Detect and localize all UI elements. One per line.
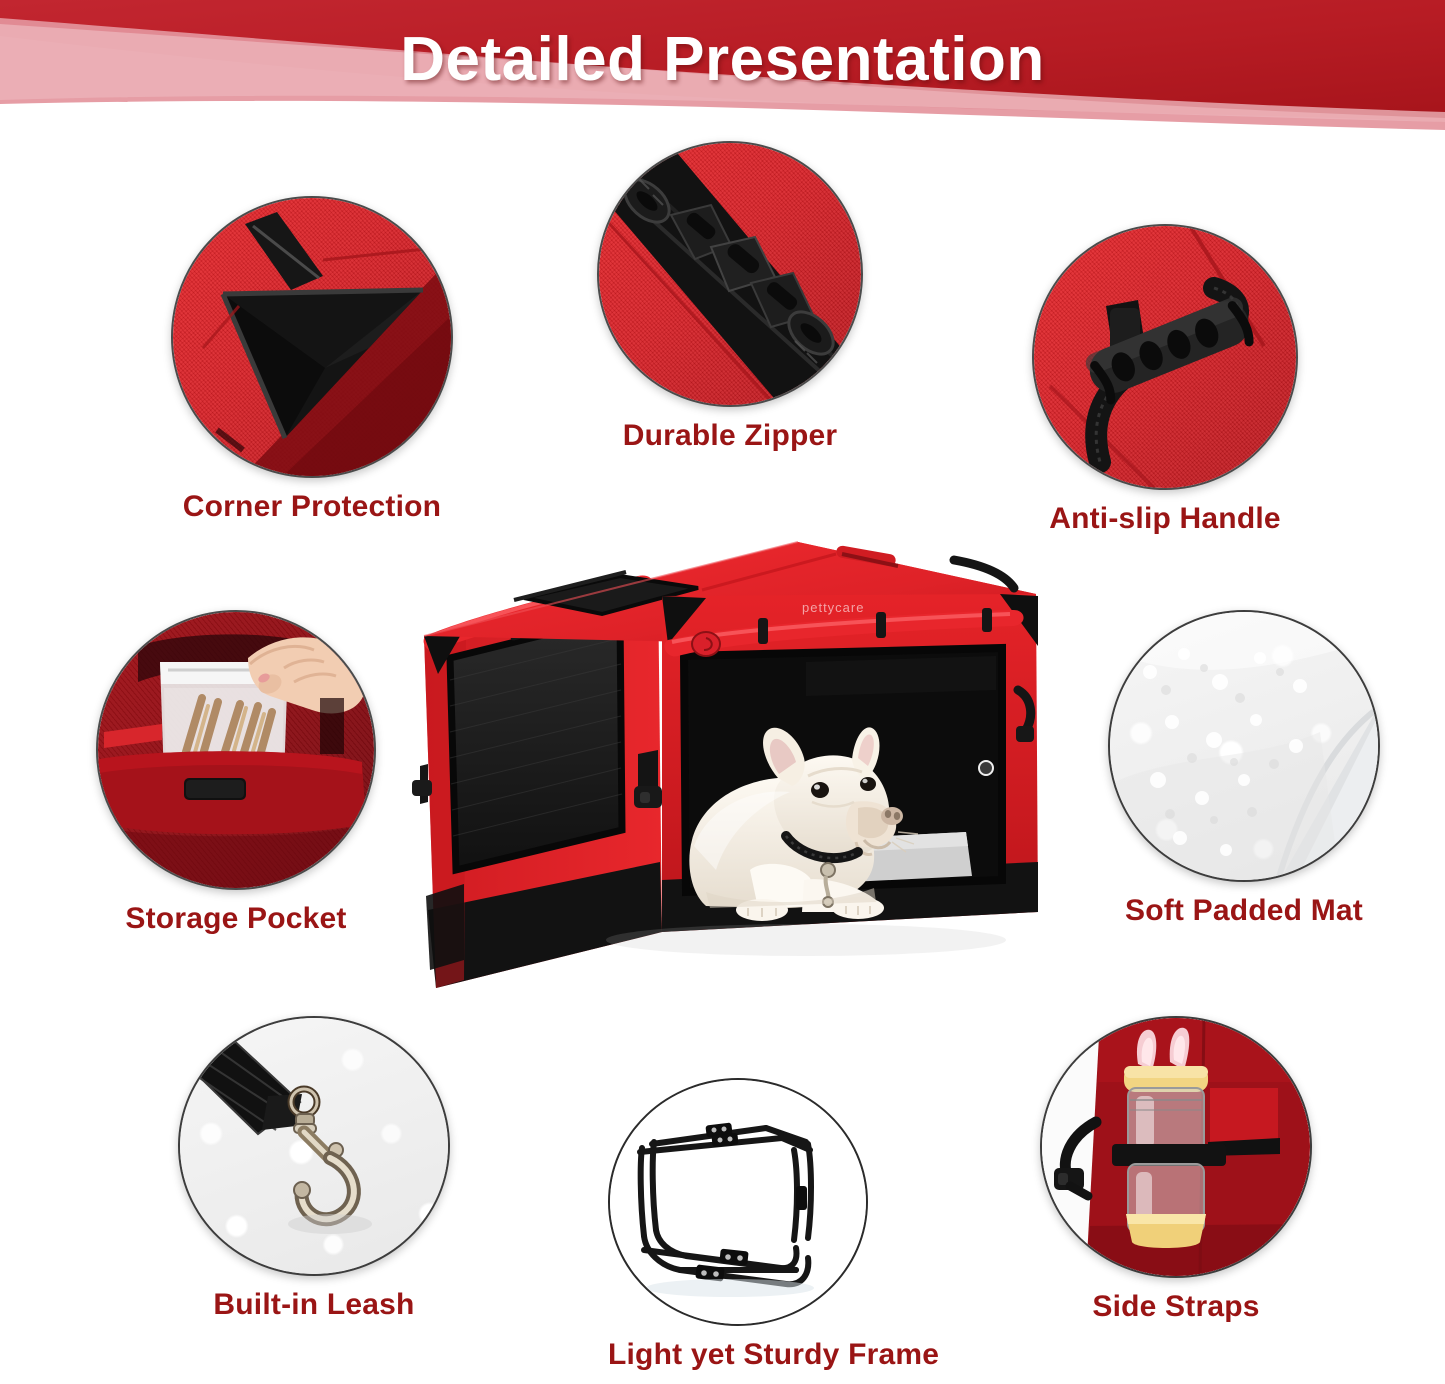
corner-protector-icon <box>171 196 453 478</box>
zipper-icon <box>597 141 863 407</box>
header-banner: Detailed Presentation <box>0 0 1445 140</box>
feature-label-light-sturdy-frame: Light yet Sturdy Frame <box>608 1338 939 1372</box>
product-image-dog-crate: pettycare <box>406 540 1046 1012</box>
feature-label-side-straps: Side Straps <box>1040 1290 1312 1324</box>
handle-icon <box>1032 224 1298 490</box>
feature-label-soft-padded-mat: Soft Padded Mat <box>1108 894 1380 928</box>
feature-side-straps: Side Straps <box>1040 1016 1312 1324</box>
feature-soft-padded-mat: Soft Padded Mat <box>1108 610 1380 928</box>
feature-anti-slip-handle: Anti-slip Handle <box>1032 224 1298 536</box>
feature-light-sturdy-frame: Light yet Sturdy Frame <box>608 1078 939 1372</box>
feature-label-corner-protection: Corner Protection <box>171 490 453 524</box>
leash-clip-icon <box>178 1016 450 1276</box>
feature-label-storage-pocket: Storage Pocket <box>96 902 376 936</box>
crate-side-buckle <box>634 750 662 808</box>
banner-shape <box>0 0 1445 140</box>
feature-built-in-leash: Built-in Leash <box>178 1016 450 1322</box>
steel-frame-icon <box>608 1078 868 1326</box>
feature-corner-protection: Corner Protection <box>171 196 453 524</box>
feature-label-durable-zipper: Durable Zipper <box>597 419 863 453</box>
infographic-page: Detailed Presentation <box>0 0 1445 1384</box>
pocket-icon <box>96 610 376 890</box>
feature-durable-zipper: Durable Zipper <box>597 141 863 453</box>
fleece-mat-icon <box>1108 610 1380 882</box>
feature-storage-pocket: Storage Pocket <box>96 610 376 936</box>
side-strap-bottle-icon <box>1040 1016 1312 1278</box>
brand-logo-text: pettycare <box>802 600 864 615</box>
feature-label-built-in-leash: Built-in Leash <box>178 1288 450 1322</box>
feature-label-anti-slip-handle: Anti-slip Handle <box>1032 502 1298 536</box>
